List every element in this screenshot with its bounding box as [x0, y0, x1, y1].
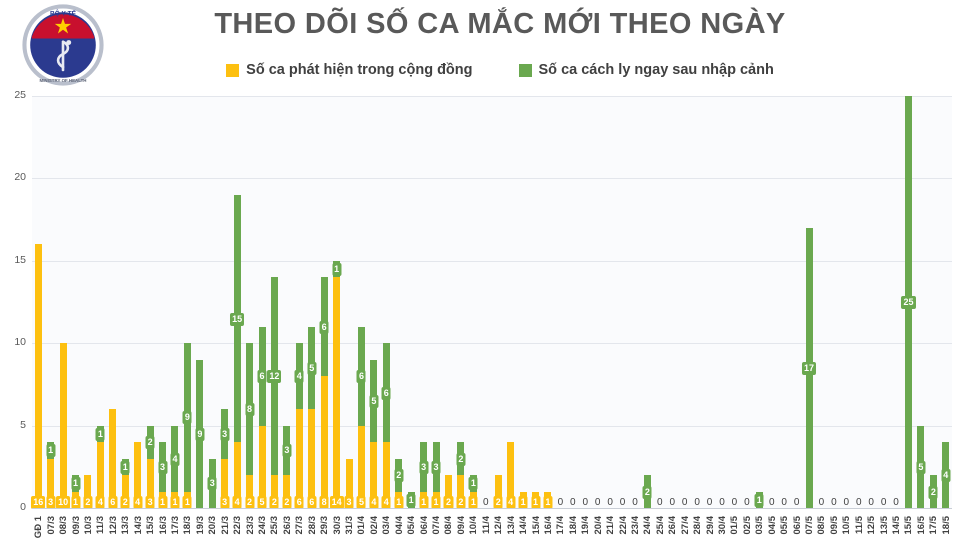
bar-column[interactable]: 82 [246, 343, 253, 508]
x-axis-tick-label: 29/3 [319, 516, 330, 535]
chart-title: THEO DÕI SỐ CA MẮC MỚI THEO NGÀY [120, 8, 880, 41]
bar-value-label-quarantine: 1 [96, 428, 105, 441]
x-axis-tick-label: 11/4 [481, 516, 492, 534]
x-axis-tick-label: 05/5 [779, 516, 790, 535]
x-axis-tick-label: 16/5 [916, 516, 927, 535]
bar-segment-quarantine[interactable]: 1 [97, 426, 104, 442]
bar-segment-community[interactable]: 1 [544, 492, 551, 508]
x-axis-tick-label: 08/4 [443, 516, 454, 535]
bar-column[interactable]: 65 [358, 327, 365, 508]
bar-segment-quarantine[interactable]: 2 [644, 475, 651, 508]
bar-column[interactable]: 12 [122, 459, 129, 508]
y-axis-tick-label: 10 [0, 336, 26, 348]
bar-column[interactable]: 1 [532, 492, 539, 508]
bar-value-label-quarantine: 8 [245, 403, 254, 416]
bar-value-label-quarantine: 6 [320, 321, 329, 334]
bar-segment-quarantine[interactable]: 2 [147, 426, 154, 459]
legend-swatch-community-icon [226, 64, 239, 77]
x-axis-tick-label: 20/4 [593, 516, 604, 535]
bar-segment-quarantine[interactable]: 1 [47, 442, 54, 458]
bar-segment-community[interactable]: 5 [259, 426, 266, 508]
x-axis-tick-label: 17/4 [555, 516, 566, 535]
bar-segment-community[interactable]: 2 [271, 475, 278, 508]
bar-segment-community[interactable]: 1 [159, 492, 166, 508]
x-axis-tick-label: 01/5 [729, 516, 740, 535]
bar-segment-community[interactable]: 4 [97, 442, 104, 508]
bar-segment-community[interactable]: 6 [109, 409, 116, 508]
x-axis-tick-label: 12/3 [108, 516, 119, 535]
x-axis-tick-label: 04/4 [394, 516, 405, 535]
bar-segment-quarantine[interactable]: 5 [370, 360, 377, 442]
bar-segment-quarantine[interactable]: 1 [333, 261, 340, 277]
bar-column[interactable]: 68 [321, 277, 328, 508]
bar-column[interactable]: 22 [457, 442, 464, 508]
bar-column[interactable]: 5 [917, 426, 924, 508]
bar-value-label-quarantine: 12 [267, 370, 281, 383]
bar-column[interactable]: 11 [470, 475, 477, 508]
bar-segment-community[interactable]: 1 [184, 492, 191, 508]
bar-value-label-quarantine: 4 [295, 370, 304, 383]
bar-segment-quarantine[interactable]: 6 [358, 327, 365, 426]
bar-segment-quarantine[interactable]: 6 [321, 277, 328, 376]
bar-segment-community[interactable]: 3 [47, 459, 54, 508]
x-axis-tick-label: 26/3 [282, 516, 293, 535]
x-axis-tick-label: 04/5 [767, 516, 778, 535]
bar-column[interactable]: 91 [184, 343, 191, 508]
bar-segment-quarantine[interactable]: 25 [905, 96, 912, 508]
chart-header: BỘ Y TẾ MINISTRY OF HEALTH THEO DÕI SỐ C… [0, 0, 960, 92]
bar-segment-community[interactable]: 2 [84, 475, 91, 508]
x-axis-tick-label: 15/4 [531, 516, 542, 535]
bar-segment-community[interactable]: 4 [134, 442, 141, 508]
x-axis-tick-label: 25/4 [655, 516, 666, 535]
bar-segment-quarantine[interactable]: 4 [942, 442, 949, 508]
x-axis-tick-label: 10/5 [841, 516, 852, 535]
bar-segment-community[interactable]: 3 [346, 459, 353, 508]
x-axis-tick-label: 22/4 [618, 516, 629, 535]
bar-column[interactable]: 9 [196, 360, 203, 508]
x-axis-tick-label: 03/4 [381, 516, 392, 535]
bar-column[interactable]: 114 [333, 261, 340, 508]
x-axis-tick-label: 09/3 [71, 516, 82, 535]
svg-text:MINISTRY OF HEALTH: MINISTRY OF HEALTH [40, 78, 87, 83]
bar-segment-community[interactable]: 2 [283, 475, 290, 508]
bar-segment-quarantine[interactable]: 15 [234, 195, 241, 442]
bar-value-label-quarantine: 4 [170, 453, 179, 466]
x-axis-tick-label: 18/5 [941, 516, 952, 535]
bar-column[interactable]: 13 [47, 442, 54, 508]
bar-segment-community[interactable]: 3 [221, 459, 228, 508]
x-axis-tick-label: 10/3 [83, 516, 94, 535]
bar-value-label-quarantine: 17 [802, 362, 816, 375]
bar-value-label-quarantine: 6 [257, 370, 266, 383]
x-axis-tick-label: 19/3 [195, 516, 206, 535]
x-axis-tick-label: 17/3 [170, 516, 181, 535]
bar-segment-community[interactable]: 8 [321, 376, 328, 508]
bar-segment-quarantine[interactable]: 3 [221, 409, 228, 458]
bar-segment-community[interactable]: 5 [358, 426, 365, 508]
bar-segment-quarantine[interactable]: 9 [184, 343, 191, 491]
bar-segment-quarantine[interactable]: 4 [171, 426, 178, 492]
x-axis-tick-label: 28/4 [692, 516, 703, 535]
x-axis-tick-label: 20/3 [207, 516, 218, 535]
chart-plot-area: 0510152025 16131011214612423314191933315… [0, 92, 960, 540]
x-axis-tick-label: 02/4 [369, 516, 380, 535]
y-axis-tick-label: 5 [0, 419, 26, 431]
bar-column[interactable]: 1 [544, 492, 551, 508]
bar-value-label-quarantine: 9 [195, 428, 204, 441]
bar-segment-quarantine[interactable]: 1 [756, 492, 763, 508]
bar-value-label-quarantine: 4 [941, 469, 950, 482]
bar-segment-community[interactable]: 16 [35, 244, 42, 508]
x-axis-tick-label: 13/4 [506, 516, 517, 535]
y-axis-tick-label: 0 [0, 501, 26, 513]
bar-column[interactable]: 2 [84, 475, 91, 508]
bar-value-label-quarantine: 6 [357, 370, 366, 383]
bar-segment-community[interactable]: 14 [333, 277, 340, 508]
x-axis-tick-label: 12/4 [493, 516, 504, 535]
bar-column[interactable]: 10 [60, 343, 67, 508]
bar-segment-community[interactable]: 4 [507, 442, 514, 508]
x-axis-tick-label: 24/4 [642, 516, 653, 535]
bar-segment-quarantine[interactable]: 9 [196, 360, 203, 508]
legend-swatch-quarantine-icon [519, 64, 532, 77]
bar-segment-community[interactable]: 1 [470, 492, 477, 508]
bar-segment-community[interactable]: 1 [395, 492, 402, 508]
bar-segment-quarantine[interactable]: 8 [246, 343, 253, 475]
x-axis-tick-label: 06/4 [419, 516, 430, 535]
bar-segment-community[interactable]: 1 [433, 492, 440, 508]
bar-column[interactable]: 2 [644, 475, 651, 508]
bar-value-label-quarantine: 1 [469, 477, 478, 490]
x-axis-tick-label: 27/3 [294, 516, 305, 535]
bar-value-label-quarantine: 2 [456, 453, 465, 466]
x-axis-tick-label: 08/3 [58, 516, 69, 535]
x-axis-tick-label: 07/4 [431, 516, 442, 535]
bar-segment-quarantine[interactable]: 3 [159, 442, 166, 491]
bar-segment-community[interactable]: 2 [122, 475, 129, 508]
bar-value-label-quarantine: 25 [901, 296, 915, 309]
bar-column[interactable]: 1 [756, 492, 763, 508]
bar-column[interactable]: 4 [942, 442, 949, 508]
bar-value-label-quarantine: 3 [220, 428, 229, 441]
x-axis-tick-label: 28/3 [307, 516, 318, 535]
bar-value-label-quarantine: 6 [382, 387, 391, 400]
x-axis-tick-label: 11/5 [854, 516, 865, 534]
x-axis-tick-label: 05/4 [406, 516, 417, 535]
x-axis-tick-label: 06/5 [792, 516, 803, 535]
bar-column[interactable]: 4 [134, 442, 141, 508]
x-axis-tick-label: 23/3 [245, 516, 256, 535]
bar-value-label-quarantine: 2 [394, 469, 403, 482]
x-axis-tick-label: 09/5 [829, 516, 840, 535]
x-axis-tick-label: 31/3 [344, 516, 355, 535]
bar-column[interactable]: 154 [234, 195, 241, 508]
x-axis-tick-label: 21/3 [220, 516, 231, 535]
bar-segment-quarantine[interactable]: 5 [917, 426, 924, 508]
bar-column[interactable]: 31 [420, 442, 427, 508]
chart-legend: Số ca phát hiện trong cộng đồng Số ca cá… [120, 62, 880, 78]
x-axis-tick-label: 30/4 [717, 516, 728, 535]
x-axis-tick-label: 13/5 [879, 516, 890, 535]
legend-item-quarantine: Số ca cách ly ngay sau nhập cảnh [519, 62, 774, 78]
x-axis-tick-label: 14/5 [891, 516, 902, 535]
bar-value-label-quarantine: 5 [369, 395, 378, 408]
bar-segment-quarantine[interactable]: 17 [806, 228, 813, 508]
bar-column[interactable]: 41 [171, 426, 178, 508]
bar-value-label-quarantine: 1 [71, 477, 80, 490]
bar-value-label-quarantine: 3 [432, 461, 441, 474]
bar-value-label-quarantine: 5 [307, 362, 316, 375]
x-axis-tick-label: 29/4 [705, 516, 716, 535]
legend-label-community: Số ca phát hiện trong cộng đồng [246, 62, 472, 78]
bar-segment-community[interactable]: 4 [234, 442, 241, 508]
bar-column[interactable]: 2 [930, 475, 937, 508]
x-axis-tick-label: 10/4 [468, 516, 479, 535]
x-axis-tick-label: 09/4 [456, 516, 467, 535]
bar-segment-community[interactable]: 1 [532, 492, 539, 508]
x-axis-tick-label: 26/4 [667, 516, 678, 535]
bar-value-label-quarantine: 3 [158, 461, 167, 474]
bar-segment-quarantine[interactable]: 2 [457, 442, 464, 475]
x-axis-tick-label: 19/4 [580, 516, 591, 535]
bar-segment-quarantine[interactable]: 4 [296, 343, 303, 409]
bar-column[interactable]: 31 [433, 442, 440, 508]
x-axis-tick-label: 27/4 [680, 516, 691, 535]
bar-value-label-quarantine: 2 [643, 486, 652, 499]
bar-column[interactable]: 64 [383, 343, 390, 508]
bar-value-label-quarantine: 3 [208, 477, 217, 490]
bar-column[interactable]: 33 [221, 409, 228, 508]
x-axis-tick-label: 24/3 [257, 516, 268, 535]
bar-column[interactable]: 4 [507, 442, 514, 508]
bar-value-label-quarantine: 1 [755, 494, 764, 507]
bar-column[interactable]: 21 [395, 459, 402, 508]
bar-segment-community[interactable]: 4 [370, 442, 377, 508]
bar-column[interactable]: 54 [370, 360, 377, 508]
bar-value-label-quarantine: 9 [183, 411, 192, 424]
x-axis-baseline [32, 508, 952, 509]
bar-segment-quarantine[interactable]: 3 [433, 442, 440, 491]
x-axis-tick-label: 18/4 [568, 516, 579, 535]
bar-segment-quarantine[interactable]: 6 [259, 327, 266, 426]
bar-segment-community[interactable]: 2 [457, 475, 464, 508]
bar-column[interactable]: 1 [520, 492, 527, 508]
bar-segment-community[interactable]: 1 [420, 492, 427, 508]
x-axis-tick-label: 16/3 [158, 516, 169, 535]
bar-column[interactable]: 65 [259, 327, 266, 508]
x-axis-tick-label: 22/3 [232, 516, 243, 535]
x-axis-tick-label: 02/5 [742, 516, 753, 535]
bar-column[interactable]: 122 [271, 277, 278, 508]
bar-column[interactable]: 2 [495, 475, 502, 508]
x-axis-tick-label: 30/3 [332, 516, 343, 535]
bar-segment-quarantine[interactable]: 2 [395, 459, 402, 492]
bar-column[interactable]: 3 [209, 459, 216, 508]
x-axis-tick-label: GĐ 1 [33, 516, 44, 538]
bar-segment-quarantine[interactable]: 6 [383, 343, 390, 442]
bar-value-label-quarantine: 1 [46, 444, 55, 457]
bar-segment-community[interactable]: 2 [445, 475, 452, 508]
x-axis-tick-label: 03/5 [754, 516, 765, 535]
bar-column[interactable]: 2 [445, 475, 452, 508]
bar-segment-quarantine[interactable]: 2 [930, 475, 937, 508]
bar-value-label-quarantine: 1 [121, 461, 130, 474]
bar-column[interactable]: 16 [35, 244, 42, 508]
x-axis-tick-label: 01/4 [356, 516, 367, 535]
bar-segment-quarantine[interactable]: 1 [408, 492, 415, 508]
bar-column[interactable]: 31 [159, 442, 166, 508]
x-axis-tick-label: 11/3 [95, 516, 106, 534]
bar-segment-community[interactable]: 2 [495, 475, 502, 508]
x-axis-tick-label: 13/3 [120, 516, 131, 535]
bar-segment-quarantine[interactable]: 1 [122, 459, 129, 475]
x-axis-tick-label: 23/4 [630, 516, 641, 535]
x-axis-tick-label: 18/3 [182, 516, 193, 535]
bar-value-label-quarantine: 15 [230, 313, 244, 326]
x-axis-tick-label: 08/5 [816, 516, 827, 535]
bar-column[interactable]: 23 [147, 426, 154, 508]
bar-value-label-quarantine: 3 [419, 461, 428, 474]
bar-column[interactable]: 17 [806, 228, 813, 508]
x-axis-tick-label: 14/4 [518, 516, 529, 535]
bar-segment-community[interactable]: 1 [171, 492, 178, 508]
bar-segment-community[interactable]: 10 [60, 343, 67, 508]
ministry-of-health-logo: BỘ Y TẾ MINISTRY OF HEALTH [22, 4, 104, 86]
legend-label-quarantine: Số ca cách ly ngay sau nhập cảnh [539, 62, 774, 78]
x-axis-tick-label: 25/3 [269, 516, 280, 535]
bar-segment-community[interactable]: 1 [72, 492, 79, 508]
x-axis-tick-label: 15/5 [903, 516, 914, 535]
bar-column[interactable]: 6 [109, 409, 116, 508]
bar-segment-quarantine[interactable]: 1 [72, 475, 79, 491]
bar-segment-community[interactable]: 3 [147, 459, 154, 508]
bar-segment-community[interactable]: 6 [296, 409, 303, 508]
bar-column[interactable]: 1 [408, 492, 415, 508]
x-axis-tick-label: 14/3 [133, 516, 144, 535]
bar-value-label-quarantine: 2 [146, 436, 155, 449]
x-axis-tick-label: 12/5 [866, 516, 877, 535]
x-axis-tick-label: 17/5 [928, 516, 939, 535]
bar-segment-quarantine[interactable]: 3 [209, 459, 216, 508]
bar-column[interactable]: 32 [283, 426, 290, 508]
x-axis-tick-label: 07/3 [46, 516, 57, 535]
bar-column[interactable]: 11 [72, 475, 79, 508]
x-axis-tick-label: 21/4 [605, 516, 616, 535]
bar-segment-quarantine[interactable]: 3 [420, 442, 427, 491]
bar-series-container: 1613101121461242331419193331548265122324… [32, 96, 952, 508]
x-axis-tick-label: 16/4 [543, 516, 554, 535]
bar-column[interactable]: 25 [905, 96, 912, 508]
bar-value-label-quarantine: 5 [916, 461, 925, 474]
bar-column[interactable]: 3 [346, 459, 353, 508]
bar-segment-community[interactable]: 2 [246, 475, 253, 508]
bar-value-label-quarantine: 3 [282, 444, 291, 457]
x-axis-tick-label: 15/3 [145, 516, 156, 535]
bar-segment-quarantine[interactable]: 12 [271, 277, 278, 475]
bar-value-label-quarantine: 1 [332, 263, 341, 276]
x-axis-tick-label: 07/5 [804, 516, 815, 535]
y-axis-tick-label: 20 [0, 171, 26, 183]
bar-column[interactable]: 46 [296, 343, 303, 508]
legend-item-community: Số ca phát hiện trong cộng đồng [226, 62, 472, 78]
y-axis-tick-label: 25 [0, 89, 26, 101]
bar-segment-community[interactable]: 1 [520, 492, 527, 508]
bar-segment-quarantine[interactable]: 1 [470, 475, 477, 491]
bar-value-label-quarantine: 2 [929, 486, 938, 499]
bar-segment-quarantine[interactable]: 3 [283, 426, 290, 475]
bar-segment-quarantine[interactable]: 5 [308, 327, 315, 409]
bar-column[interactable]: 14 [97, 426, 104, 508]
y-axis-tick-label: 15 [0, 254, 26, 266]
bar-column[interactable]: 56 [308, 327, 315, 508]
bar-value-label-quarantine: 1 [407, 494, 416, 507]
bar-segment-community[interactable]: 4 [383, 442, 390, 508]
bar-segment-community[interactable]: 6 [308, 409, 315, 508]
